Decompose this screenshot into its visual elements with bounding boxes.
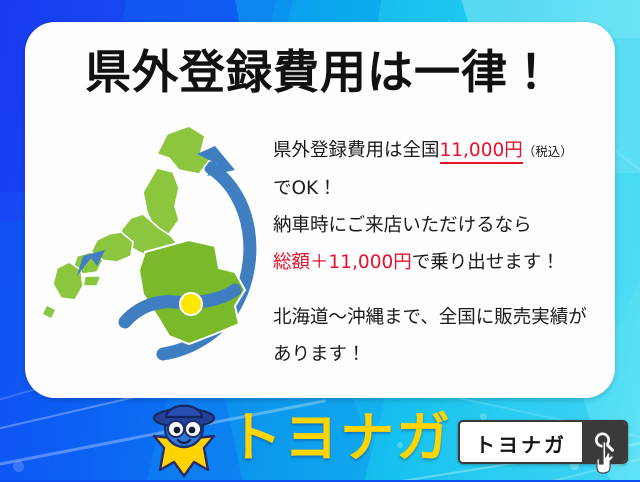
price-total-extra: 総額＋11,000円 (273, 252, 412, 273)
body-line-5: 北海道～沖縄まで、全国に販売実績が (273, 299, 613, 336)
search-widget[interactable] (458, 420, 628, 464)
toyonaga-mascot-icon (142, 398, 226, 482)
body-line-1: 県外登録費用は全国11,000円（税込） (273, 132, 613, 170)
body-line-6: あります！ (273, 336, 613, 373)
paragraph-spacer (273, 281, 613, 299)
page-title: 県外登録費用は一律！ (25, 36, 615, 102)
price-nationwide: 11,000円 (440, 140, 523, 164)
body-line-4-suffix: で乗り出せます！ (412, 252, 560, 273)
home-location-marker (180, 293, 202, 315)
tax-note: （税込） (523, 144, 573, 159)
body-line-3: 納車時にご来店いただけるなら (273, 207, 613, 244)
content-card: 県外登録費用は一律！ (25, 22, 615, 398)
footer-bar: トヨナガ (0, 398, 640, 480)
body-line-2: でOK！ (273, 170, 613, 207)
japan-map-illustration (39, 110, 279, 390)
search-icon (593, 431, 615, 453)
body-copy: 県外登録費用は全国11,000円（税込） でOK！ 納車時にご来店いただけるなら… (273, 132, 613, 373)
body-line-1-prefix: 県外登録費用は全国 (273, 140, 440, 161)
search-button[interactable] (582, 422, 626, 462)
body-line-4: 総額＋11,000円で乗り出せます！ (273, 244, 613, 281)
search-input[interactable] (460, 422, 582, 464)
brand-logotype: トヨナガ (228, 393, 452, 472)
